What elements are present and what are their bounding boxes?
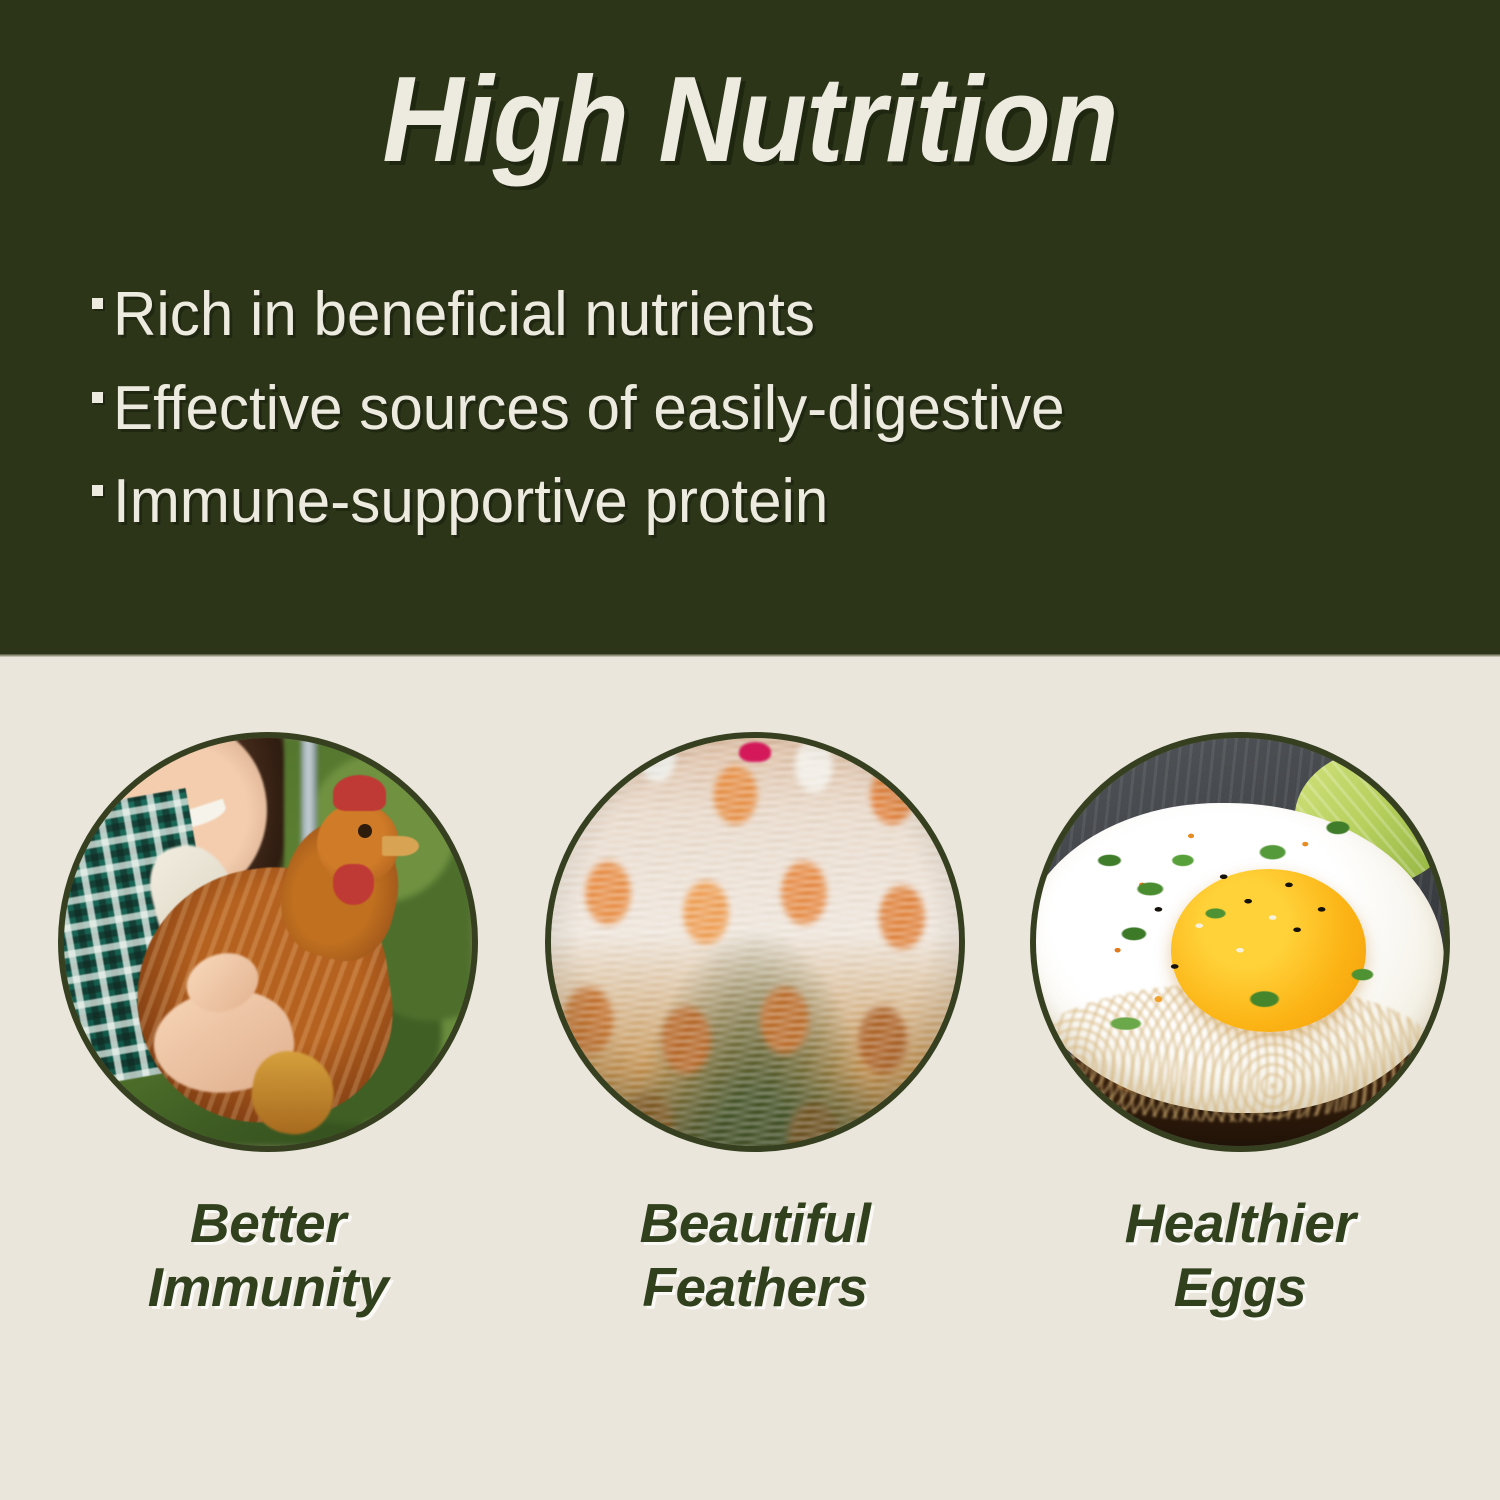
feature-caption: Beautiful Feathers	[545, 1192, 965, 1320]
list-item-label: Effective sources of easily-digestive	[113, 376, 1065, 442]
square-bullet-icon	[92, 298, 103, 309]
hero-panel: High Nutrition Rich in beneficial nutrie…	[0, 0, 1500, 657]
feature-card-immunity: Better Immunity	[58, 732, 478, 1320]
square-bullet-icon	[92, 485, 103, 496]
vignette	[551, 738, 959, 1146]
hen-comb	[333, 775, 386, 812]
product-infographic: High Nutrition Rich in beneficial nutrie…	[0, 0, 1500, 1500]
list-item: Effective sources of easily-digestive	[92, 376, 1440, 442]
list-item: Rich in beneficial nutrients	[92, 282, 1440, 348]
page-title: High Nutrition	[60, 58, 1440, 180]
feature-gallery: Better Immunity Beautiful Feathers	[0, 657, 1500, 1500]
hen-eye	[358, 824, 372, 838]
square-bullet-icon	[92, 392, 103, 403]
list-item-label: Rich in beneficial nutrients	[113, 282, 815, 348]
feature-image-eggs	[1030, 732, 1450, 1152]
feature-caption: Healthier Eggs	[1030, 1192, 1450, 1320]
feature-card-eggs: Healthier Eggs	[1030, 732, 1450, 1320]
feature-caption: Better Immunity	[58, 1192, 478, 1320]
feature-card-feathers: Beautiful Feathers	[545, 732, 965, 1320]
feature-image-immunity	[58, 732, 478, 1152]
benefit-list: Rich in beneficial nutrients Effective s…	[92, 282, 1440, 535]
list-item: Immune-supportive protein	[92, 469, 1440, 535]
herb-and-seed-garnish	[1036, 738, 1444, 1146]
feature-image-feathers	[545, 732, 965, 1152]
list-item-label: Immune-supportive protein	[113, 469, 828, 535]
